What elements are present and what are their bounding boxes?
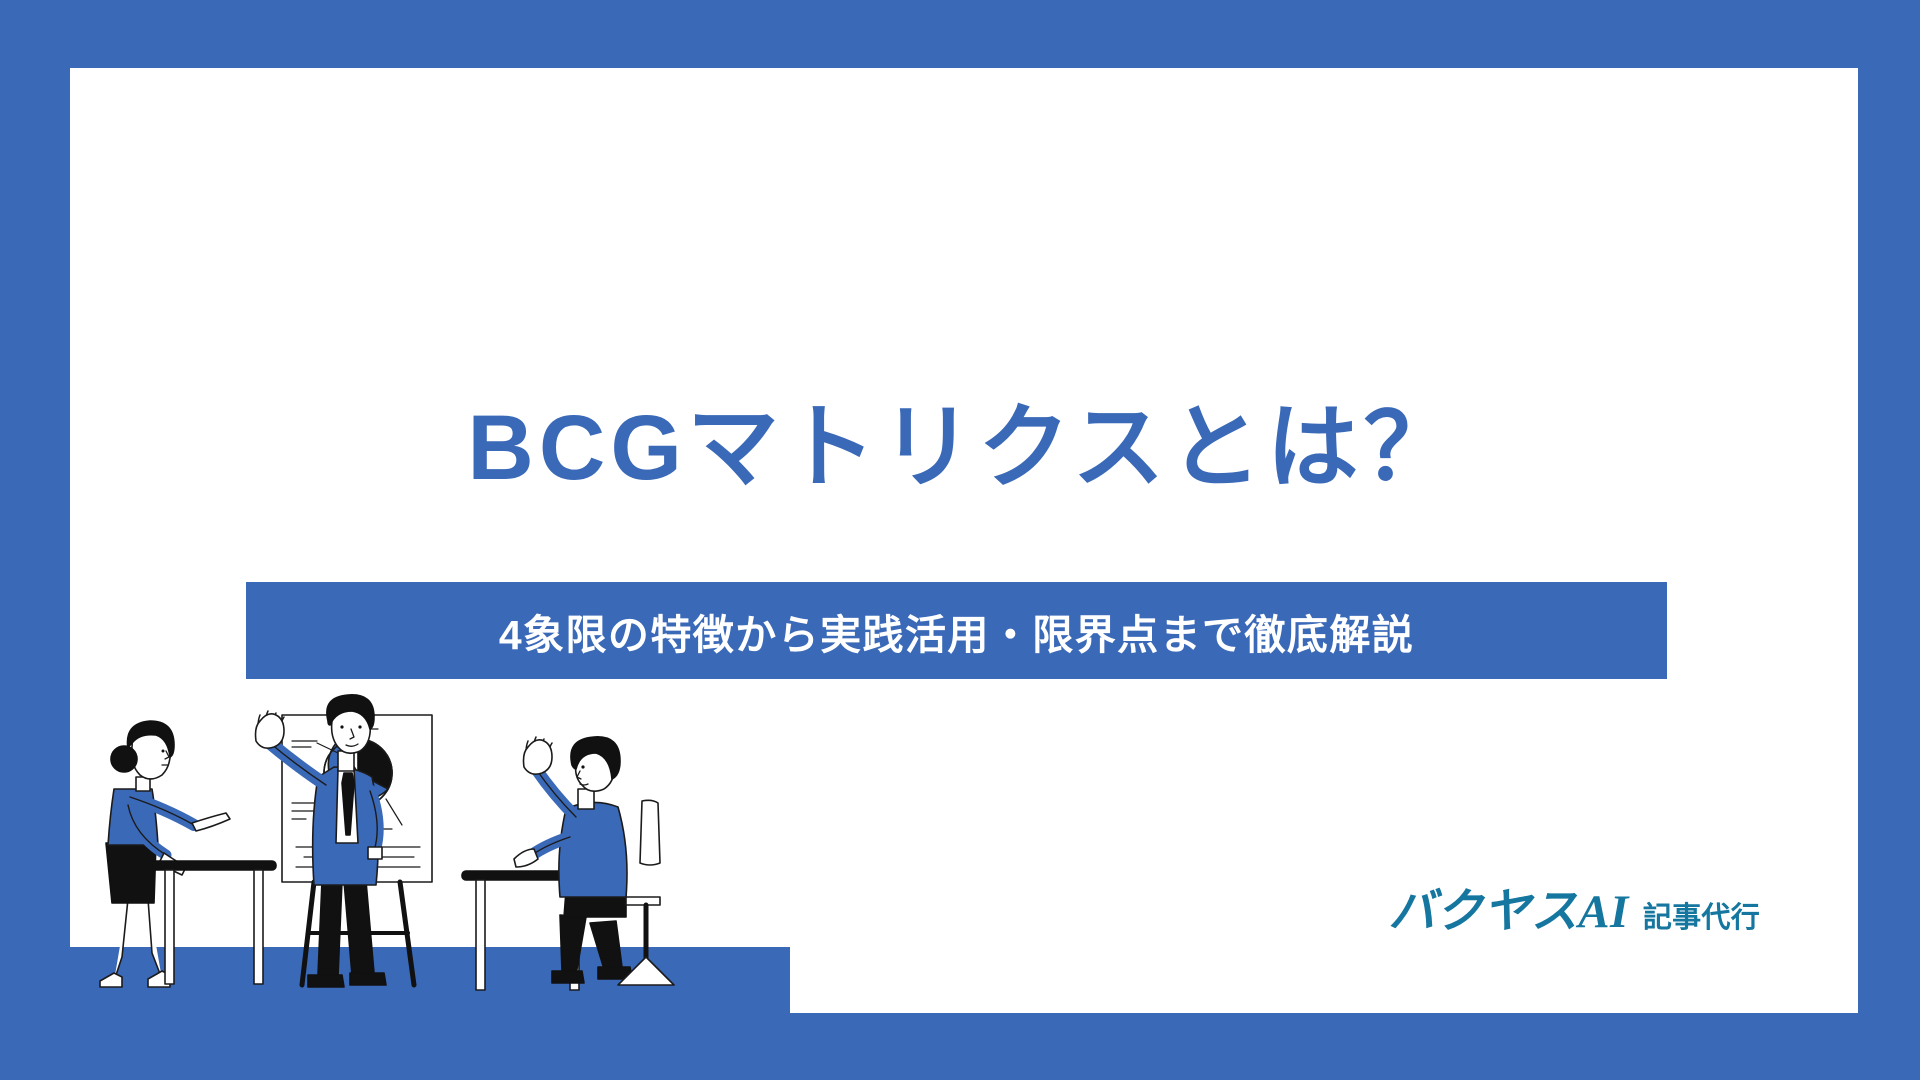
brand-logo: バクヤスAI 記事代行 (1388, 872, 1760, 941)
business-team-illustration (70, 685, 790, 1013)
slide-canvas: BCGマトリクスとは？ 4象限の特徴から実践活用・限界点まで徹底解説 バクヤスA… (0, 0, 1920, 1080)
slide-white-card: BCGマトリクスとは？ 4象限の特徴から実践活用・限界点まで徹底解説 バクヤスA… (70, 68, 1858, 1013)
floor-strip (70, 947, 790, 1013)
raised-hand-right (524, 737, 553, 774)
subtitle-text: 4象限の特徴から実践活用・限界点まで徹底解説 (499, 601, 1414, 661)
page-title: BCGマトリクスとは？ (70, 400, 1858, 497)
brand-logo-name: バクヤスAI (1388, 872, 1628, 941)
brand-logo-service: 記事代行 (1643, 894, 1760, 936)
subtitle-banner: 4象限の特徴から実践活用・限界点まで徹底解説 (246, 582, 1667, 679)
raised-hand-left (256, 711, 285, 748)
